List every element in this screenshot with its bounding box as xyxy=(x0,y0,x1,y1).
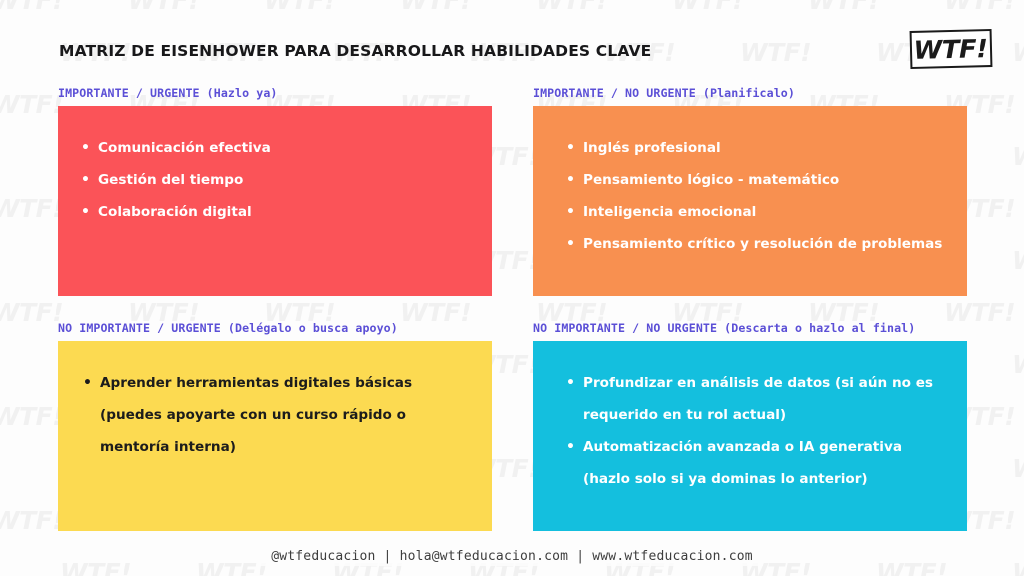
list-item: Pensamiento lógico - matemático xyxy=(565,164,945,196)
page-title: MATRIZ DE EISENHOWER PARA DESARROLLAR HA… xyxy=(59,42,651,60)
quadrant-label-important-urgent: IMPORTANTE / URGENTE (Hazlo ya) xyxy=(58,86,492,100)
slide-header: MATRIZ DE EISENHOWER PARA DESARROLLAR HA… xyxy=(0,0,1024,86)
quadrant-important-not-urgent: IMPORTANTE / NO URGENTE (Planificalo) In… xyxy=(533,86,967,296)
quadrant-not-important-urgent: NO IMPORTANTE / URGENTE (Delégalo o busc… xyxy=(58,321,492,531)
quadrant-box-important-not-urgent: Inglés profesional Pensamiento lógico - … xyxy=(533,106,967,296)
slide-footer: @wtfeducacion | hola@wtfeducacion.com | … xyxy=(0,547,1024,566)
quadrant-label-not-important-not-urgent: NO IMPORTANTE / NO URGENTE (Descarta o h… xyxy=(533,321,967,335)
wtf-logo-text: WTF! xyxy=(914,36,989,63)
quadrant-label-important-not-urgent: IMPORTANTE / NO URGENTE (Planificalo) xyxy=(533,86,967,100)
list-item: Automatización avanzada o IA generativa … xyxy=(565,431,945,495)
quadrant-label-not-important-urgent: NO IMPORTANTE / URGENTE (Delégalo o busc… xyxy=(58,321,492,335)
eisenhower-matrix: IMPORTANTE / URGENTE (Hazlo ya) Comunica… xyxy=(0,0,1024,576)
wtf-logo: WTF! xyxy=(910,29,993,69)
quadrant-box-important-urgent: Comunicación efectiva Gestión del tiempo… xyxy=(58,106,492,296)
quadrant-list-important-not-urgent: Inglés profesional Pensamiento lógico - … xyxy=(565,132,945,260)
list-item: Inglés profesional xyxy=(565,132,945,164)
list-item: Aprender herramientas digitales básicas … xyxy=(82,367,470,463)
list-item: Pensamiento crítico y resolución de prob… xyxy=(565,228,945,260)
list-item: Inteligencia emocional xyxy=(565,196,945,228)
list-item: Profundizar en análisis de datos (si aún… xyxy=(565,367,945,431)
quadrant-not-important-not-urgent: NO IMPORTANTE / NO URGENTE (Descarta o h… xyxy=(533,321,967,531)
quadrant-important-urgent: IMPORTANTE / URGENTE (Hazlo ya) Comunica… xyxy=(58,86,492,296)
footer-contact-text: @wtfeducacion | hola@wtfeducacion.com | … xyxy=(261,547,763,566)
slide-canvas: WTF!WTF!WTF!WTF!WTF!WTF!WTF!WTF!WTF!WTF!… xyxy=(0,0,1024,576)
quadrant-list-not-important-urgent: Aprender herramientas digitales básicas … xyxy=(82,367,470,463)
quadrant-box-not-important-not-urgent: Profundizar en análisis de datos (si aún… xyxy=(533,341,967,531)
quadrant-box-not-important-urgent: Aprender herramientas digitales básicas … xyxy=(58,341,492,531)
list-item: Comunicación efectiva xyxy=(80,132,470,164)
quadrant-list-important-urgent: Comunicación efectiva Gestión del tiempo… xyxy=(80,132,470,228)
list-item: Gestión del tiempo xyxy=(80,164,470,196)
list-item: Colaboración digital xyxy=(80,196,470,228)
quadrant-list-not-important-not-urgent: Profundizar en análisis de datos (si aún… xyxy=(565,367,945,495)
